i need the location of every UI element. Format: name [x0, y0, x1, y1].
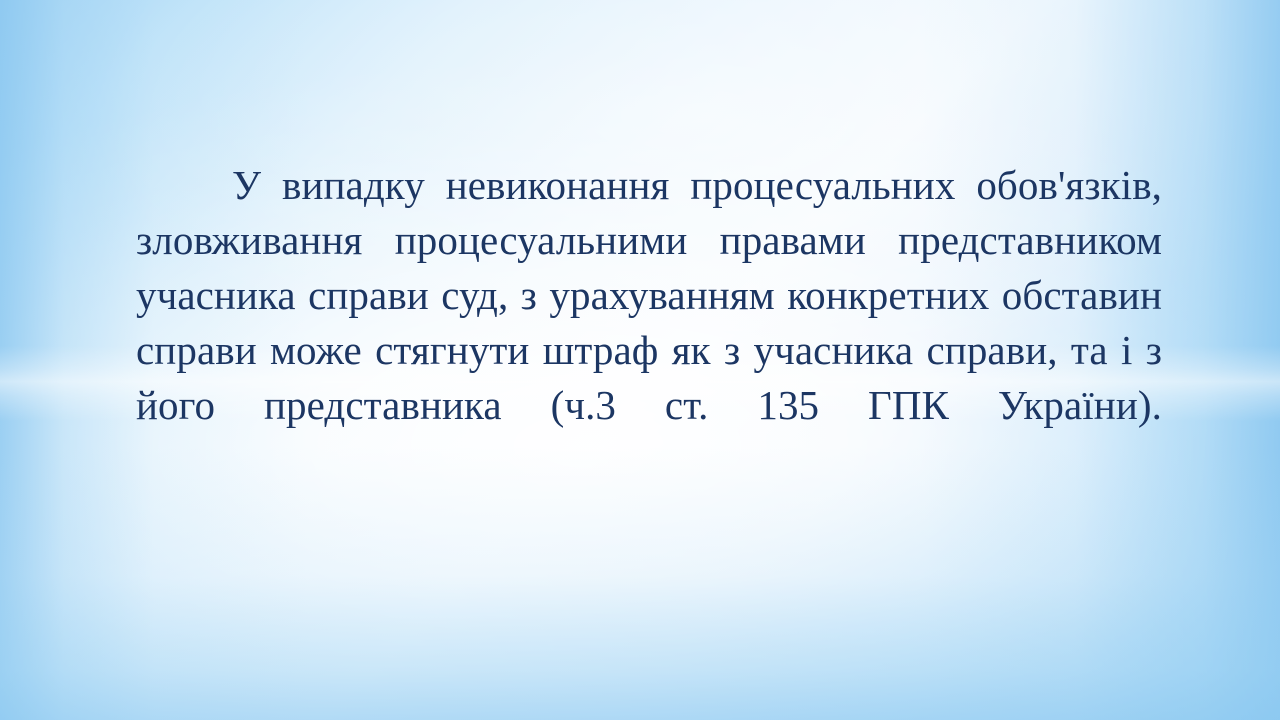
slide-content-placeholder: У випадку невиконання процесуальних обов… [136, 158, 1162, 488]
slide-body-paragraph: У випадку невиконання процесуальних обов… [136, 158, 1162, 488]
presentation-slide: У випадку невиконання процесуальних обов… [0, 0, 1280, 720]
